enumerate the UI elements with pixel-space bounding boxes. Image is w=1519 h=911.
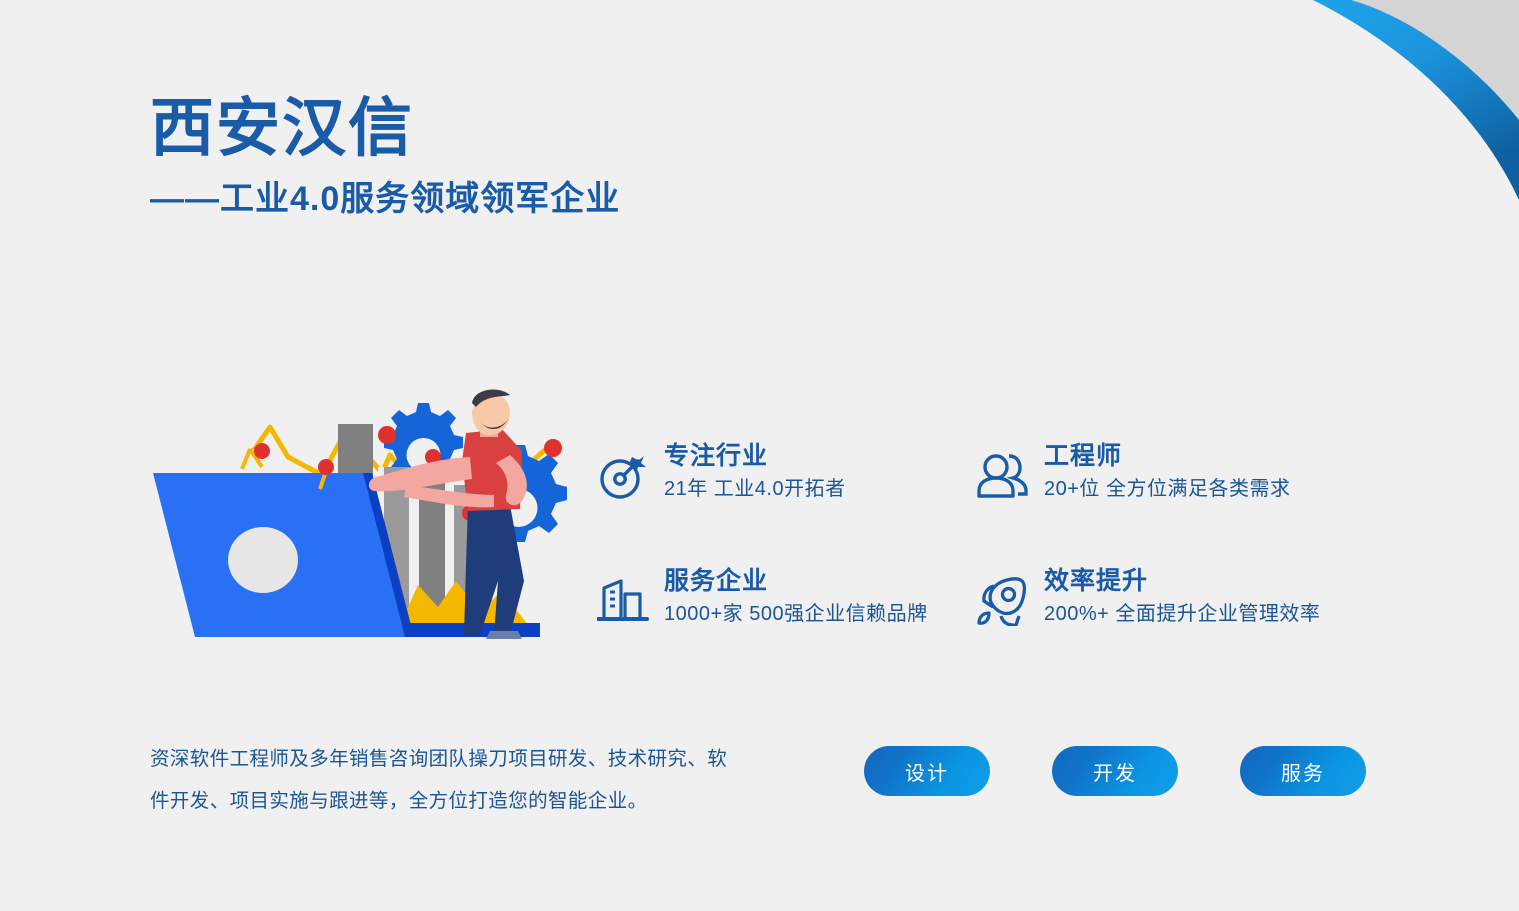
feature-desc: 20+位 全方位满足各类需求	[1044, 476, 1290, 502]
paragraph-line: 件开发、项目实施与跟进等，全方位打造您的智能企业。	[150, 780, 810, 822]
slide-canvas: 西安汉信 ——工业4.0服务领域领军企业	[0, 0, 1519, 911]
page-subtitle: ——工业4.0服务领域领军企业	[150, 182, 620, 216]
feature-item-efficiency: 效率提升 200%+ 全面提升企业管理效率	[976, 560, 1396, 685]
corner-swoosh-decoration	[1259, 0, 1519, 240]
feature-desc: 1000+家 500强企业信赖品牌	[664, 601, 928, 627]
feature-title: 工程师	[1044, 442, 1122, 470]
design-button[interactable]: 设计	[864, 746, 990, 796]
feature-title: 效率提升	[1044, 567, 1148, 595]
headline-block: 西安汉信 ——工业4.0服务领域领军企业	[150, 96, 620, 216]
feature-item-industry-focus: 专注行业 21年 工业4.0开拓者	[596, 435, 976, 560]
feature-grid: 专注行业 21年 工业4.0开拓者 工程师 20+位 全方位满足各类需求	[596, 435, 1396, 685]
buildings-icon	[596, 572, 650, 630]
laptop-screen-dot	[228, 527, 298, 593]
corner-blue-ribbon	[1313, 0, 1519, 200]
business-analytics-illustration	[150, 385, 582, 650]
target-icon	[596, 447, 650, 505]
description-paragraph: 资深软件工程师及多年销售咨询团队操刀项目研发、技术研究、软 件开发、项目实施与跟…	[150, 738, 810, 822]
rocket-icon	[976, 572, 1030, 630]
feature-desc: 21年 工业4.0开拓者	[664, 476, 846, 502]
corner-grey-wedge	[1319, 0, 1519, 120]
page-title: 西安汉信	[150, 96, 620, 160]
feature-desc: 200%+ 全面提升企业管理效率	[1044, 601, 1320, 627]
feature-item-engineers: 工程师 20+位 全方位满足各类需求	[976, 435, 1396, 560]
action-button-group: 设计 开发 服务	[864, 746, 1366, 796]
feature-title: 服务企业	[664, 567, 768, 595]
feature-title: 专注行业	[664, 442, 768, 470]
feature-item-served-companies: 服务企业 1000+家 500强企业信赖品牌	[596, 560, 976, 685]
development-button[interactable]: 开发	[1052, 746, 1178, 796]
paragraph-line: 资深软件工程师及多年销售咨询团队操刀项目研发、技术研究、软	[150, 738, 810, 780]
users-icon	[976, 447, 1030, 505]
service-button[interactable]: 服务	[1240, 746, 1366, 796]
